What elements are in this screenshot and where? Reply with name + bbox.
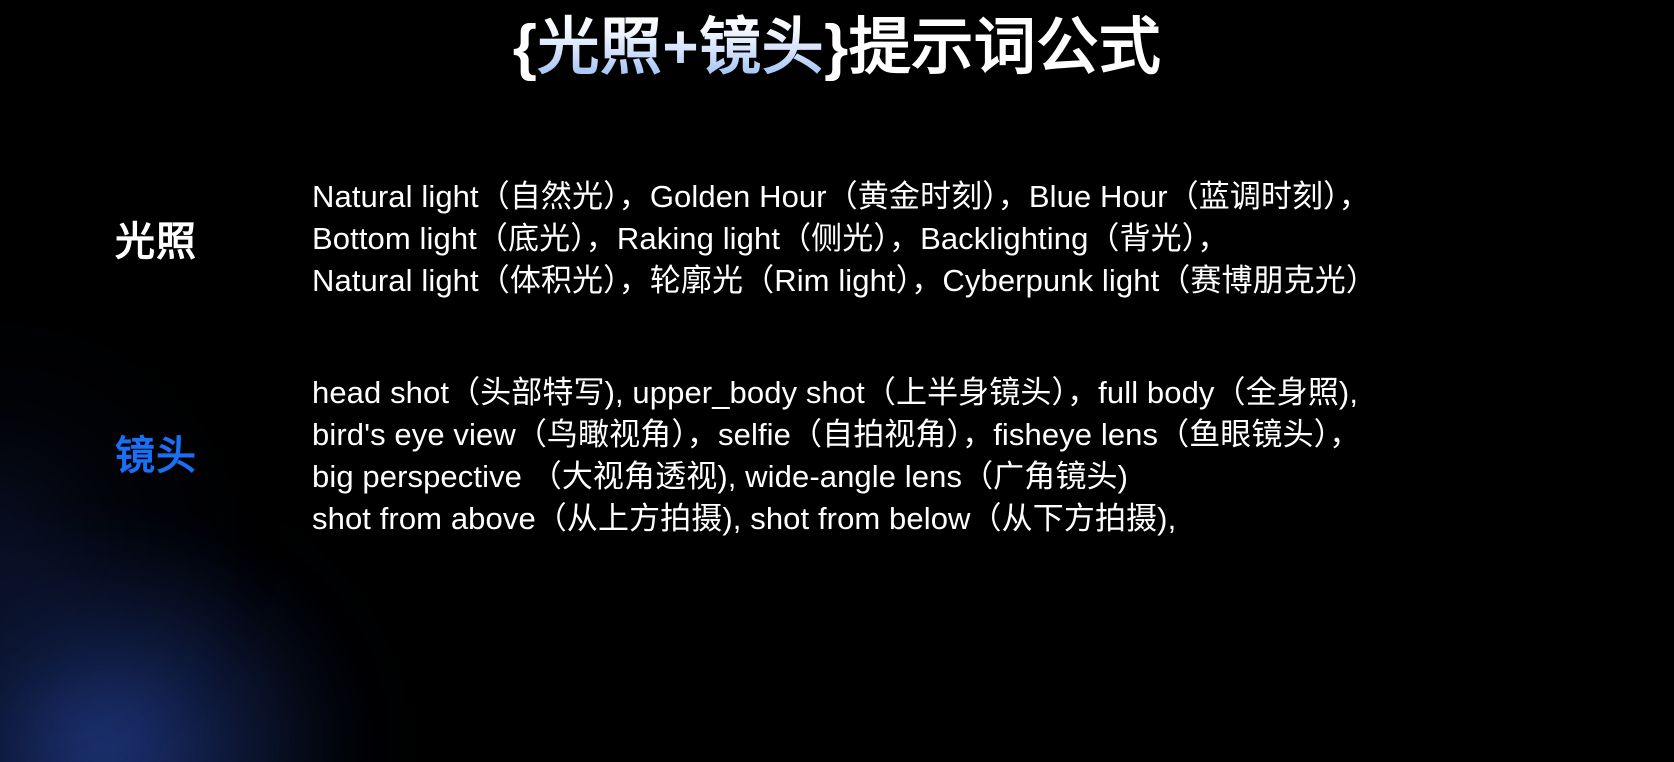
row-lighting-label-cell: 光照 <box>0 176 312 266</box>
lens-line-1: head shot（头部特写), upper_body shot（上半身镜头），… <box>312 372 1650 414</box>
content-rows: 光照 Natural light（自然光），Golden Hour（黄金时刻），… <box>0 176 1674 540</box>
row-lighting-label: 光照 <box>115 218 197 266</box>
title-brace-open: { <box>513 13 538 82</box>
row-lens: 镜头 head shot（头部特写), upper_body shot（上半身镜… <box>0 372 1674 540</box>
page-title: {光照+镜头}提示词公式 <box>513 4 1162 92</box>
title-brace-close: } <box>824 13 849 82</box>
title-accent-text: 光照+镜头 <box>537 13 824 82</box>
row-lens-label-cell: 镜头 <box>0 372 312 480</box>
lens-line-3: big perspective （大视角透视), wide-angle lens… <box>312 456 1650 498</box>
row-lighting-content: Natural light（自然光），Golden Hour（黄金时刻），Blu… <box>312 176 1674 302</box>
row-lighting: 光照 Natural light（自然光），Golden Hour（黄金时刻），… <box>0 176 1674 372</box>
lens-line-2: bird's eye view（鸟瞰视角），selfie（自拍视角），fishe… <box>312 414 1650 456</box>
row-lens-content: head shot（头部特写), upper_body shot（上半身镜头），… <box>312 372 1674 540</box>
slide-canvas: {光照+镜头}提示词公式 光照 Natural light（自然光），Golde… <box>0 0 1674 762</box>
lighting-line-3: Natural light（体积光），轮廓光（Rim light），Cyberp… <box>312 260 1650 302</box>
title-container: {光照+镜头}提示词公式 <box>0 4 1674 92</box>
lens-line-4: shot from above（从上方拍摄), shot from below（… <box>312 498 1650 540</box>
row-lens-label: 镜头 <box>115 432 197 480</box>
title-plain-text: 提示词公式 <box>849 13 1162 82</box>
lighting-line-1: Natural light（自然光），Golden Hour（黄金时刻），Blu… <box>312 176 1650 218</box>
lighting-line-2: Bottom light（底光），Raking light（侧光），Backli… <box>312 218 1650 260</box>
